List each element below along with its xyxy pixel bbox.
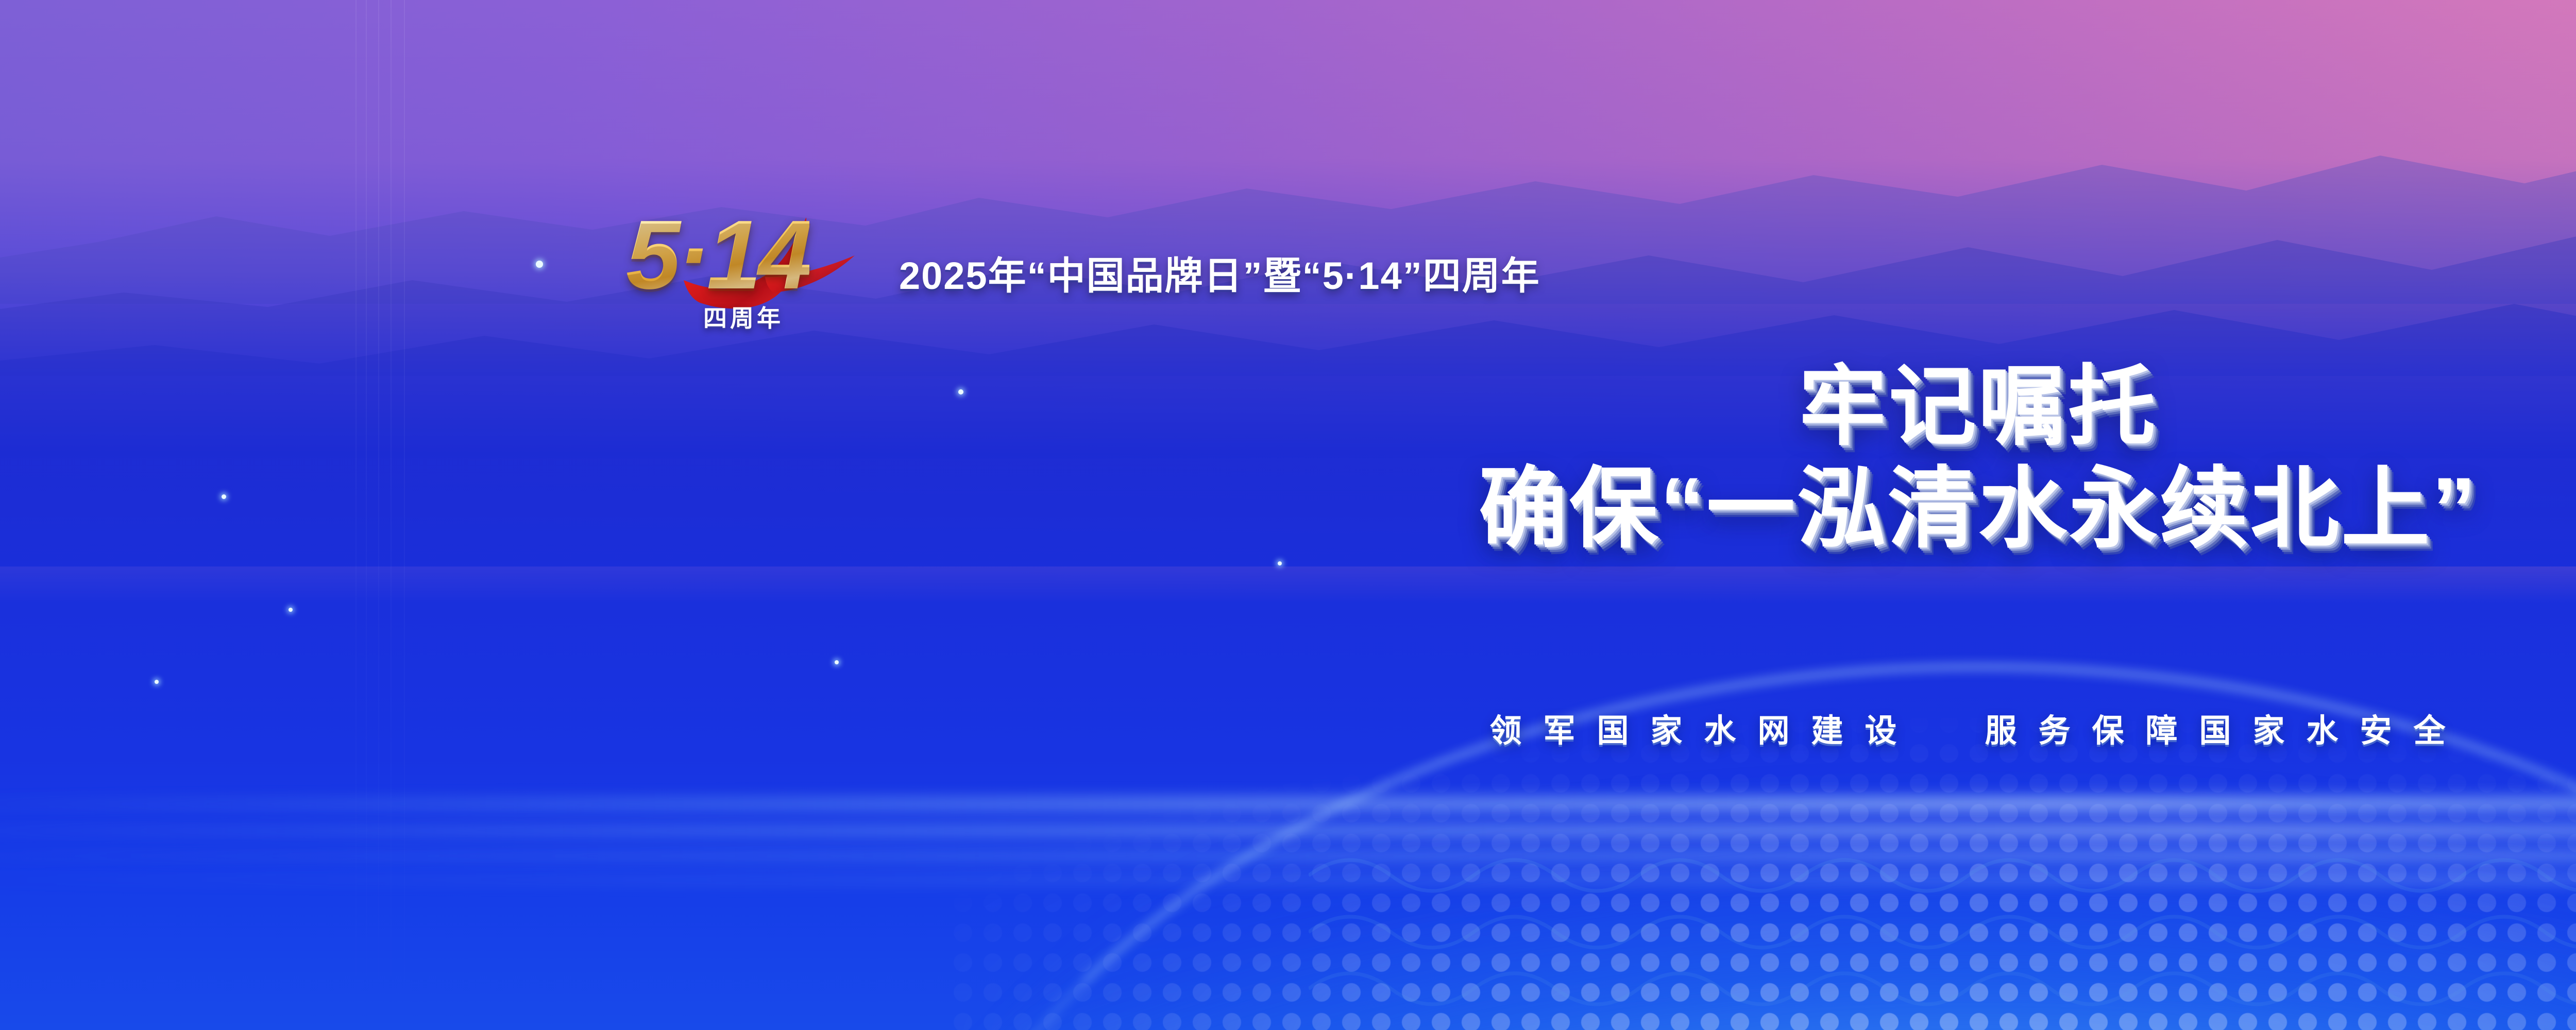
headline-line-2: 确保“一泓清水永续北上” bbox=[0, 461, 2576, 556]
tagline-right: 服务保障国家水安全 bbox=[1985, 705, 2467, 751]
anniversary-label: 四周年 bbox=[703, 300, 784, 334]
anniversary-numerals: 5·14 bbox=[626, 206, 809, 304]
headline-line-1: 牢记嘱托 bbox=[0, 360, 2576, 454]
event-title: 2025年“中国品牌日”暨“5·14”四周年 bbox=[899, 245, 1540, 300]
anniversary-logo: 5·14 四周年 bbox=[626, 206, 868, 335]
banner-stage: 5·14 四周年 2025年“中国品牌日”暨“5·14”四周年 中国南水北调 C… bbox=[0, 0, 2576, 1030]
tagline: 领军国家水网建设 服务保障国家水安全 bbox=[0, 705, 2576, 751]
top-row: 5·14 四周年 2025年“中国品牌日”暨“5·14”四周年 中国南水北调 C… bbox=[0, 196, 2576, 340]
tagline-left: 领军国家水网建设 bbox=[1490, 705, 1919, 751]
ripple-wave-lines bbox=[1309, 814, 2576, 1030]
headline: 牢记嘱托 确保“一泓清水永续北上” bbox=[0, 360, 2576, 556]
